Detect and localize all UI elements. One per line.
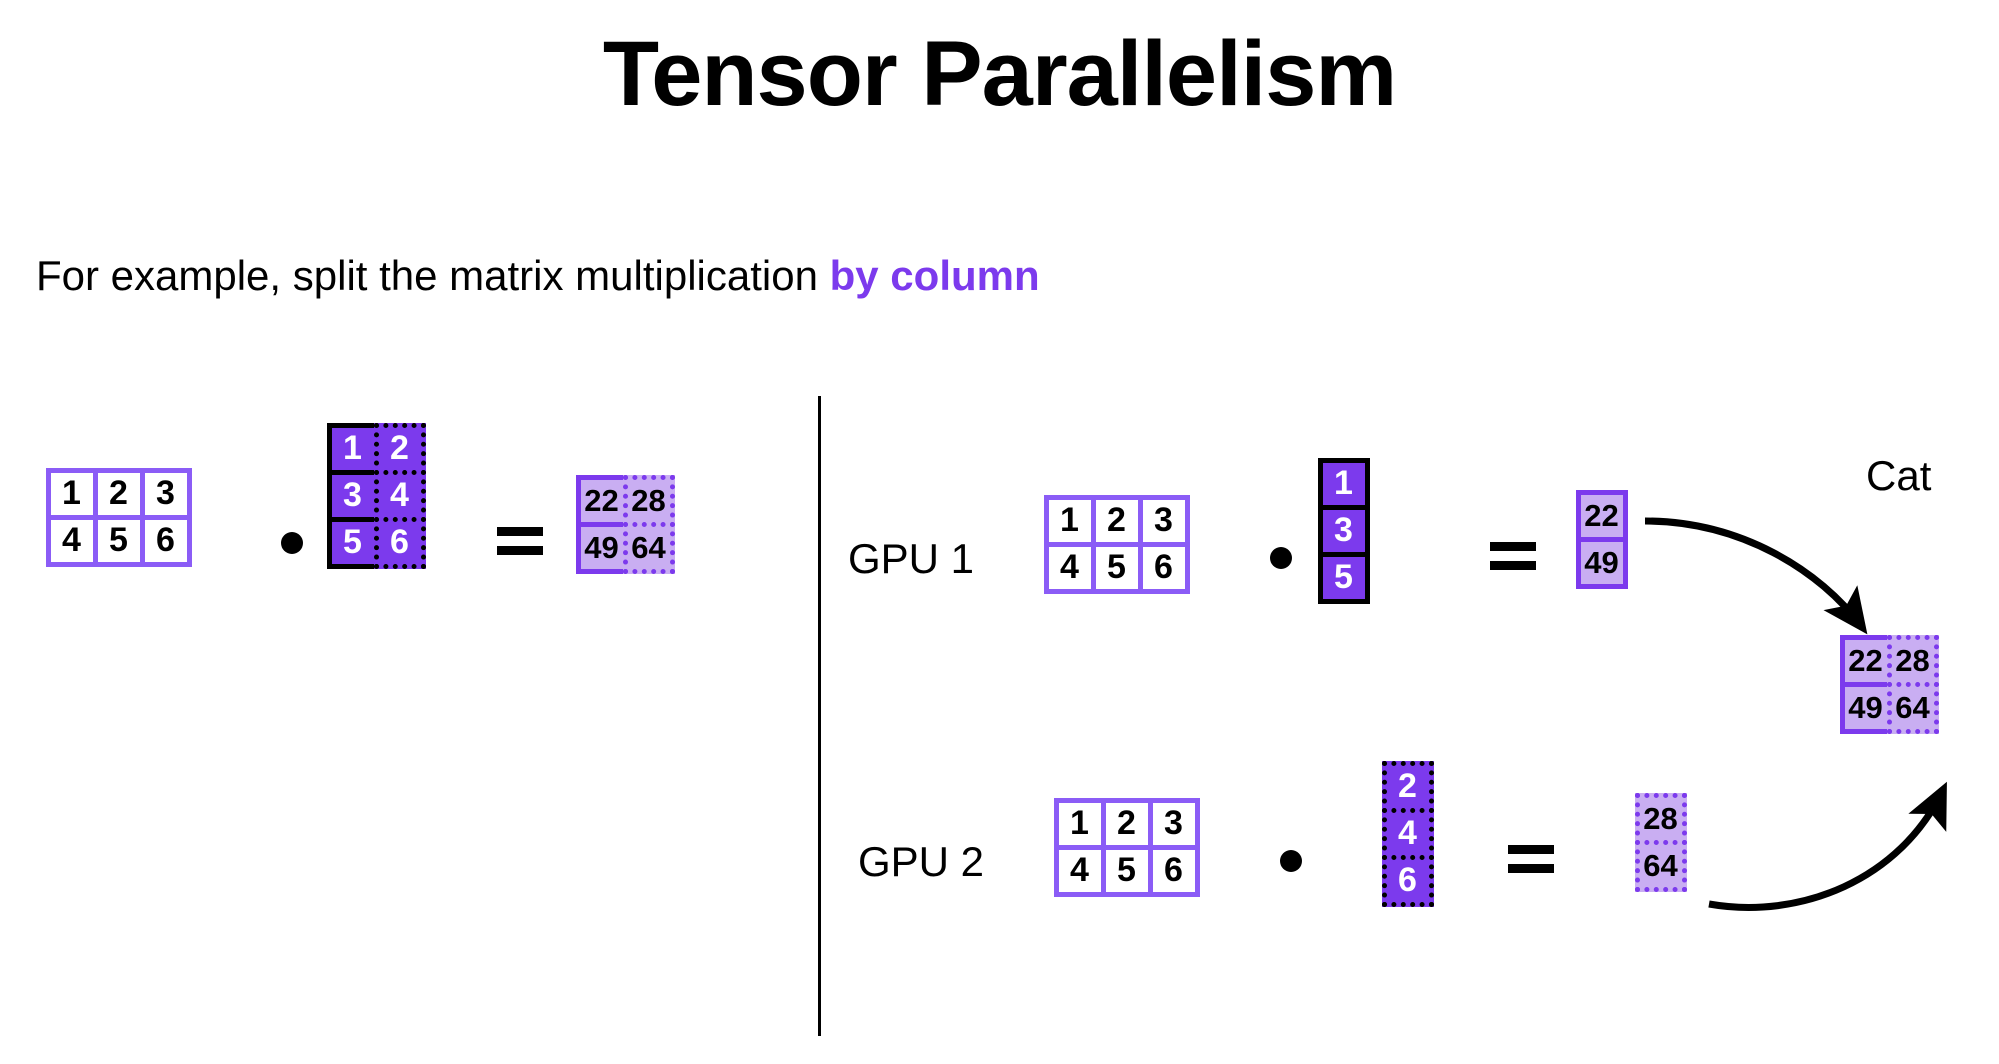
result-cell: 64 bbox=[623, 522, 675, 574]
equals-operator-icon bbox=[1508, 845, 1554, 875]
matrix-cell: 1 bbox=[1054, 798, 1106, 850]
overview-matrix-a: 1 2 3 4 5 6 bbox=[48, 470, 189, 564]
concatenated-result-matrix: 22 28 49 64 bbox=[1842, 637, 1936, 731]
matrix-row: 1 2 3 bbox=[48, 470, 189, 517]
matrix-cell: 3 bbox=[327, 470, 379, 522]
result-cell: 49 bbox=[1840, 682, 1892, 734]
matrix-row: 4 5 6 bbox=[48, 517, 189, 564]
gpu-2-result: 28 64 bbox=[1637, 795, 1684, 889]
matrix-cell: 2 bbox=[1091, 495, 1143, 547]
equals-operator-icon bbox=[497, 527, 543, 557]
vector-cell: 6 bbox=[1382, 855, 1434, 907]
result-cell: 64 bbox=[1887, 682, 1939, 734]
dot-product-operator-icon bbox=[1280, 850, 1302, 872]
matrix-row: 4 5 6 bbox=[1056, 847, 1197, 894]
result-cell: 64 bbox=[1635, 840, 1687, 892]
matrix-cell: 3 bbox=[140, 468, 192, 520]
matrix-cell: 3 bbox=[1138, 495, 1190, 547]
vector-cell: 1 bbox=[1318, 458, 1370, 510]
result-cell: 22 bbox=[1576, 490, 1628, 542]
matrix-cell: 2 bbox=[374, 423, 426, 475]
gpu-1-vector-b: 1 3 5 bbox=[1320, 460, 1367, 601]
result-cell: 49 bbox=[576, 522, 628, 574]
matrix-cell: 6 bbox=[374, 517, 426, 569]
gpu-1-label: GPU 1 bbox=[848, 535, 974, 583]
gpu-2-vector-b: 2 4 6 bbox=[1384, 763, 1431, 904]
dot-product-operator-icon bbox=[1270, 547, 1292, 569]
matrix-row: 1 2 3 bbox=[1046, 497, 1187, 544]
matrix-cell: 1 bbox=[1044, 495, 1096, 547]
matrix-cell: 6 bbox=[1138, 542, 1190, 594]
matrix-cell: 1 bbox=[46, 468, 98, 520]
matrix-cell: 5 bbox=[327, 517, 379, 569]
result-cell: 49 bbox=[1576, 537, 1628, 589]
arrow-gpu1-to-concat bbox=[1645, 521, 1862, 627]
matrix-cell: 6 bbox=[140, 515, 192, 567]
gpu-2-label: GPU 2 bbox=[858, 838, 984, 886]
matrix-cell: 5 bbox=[1101, 845, 1153, 897]
matrix-row: 22 28 bbox=[1842, 637, 1936, 684]
overview-result-matrix: 22 28 49 64 bbox=[578, 477, 672, 571]
matrix-cell: 5 bbox=[1091, 542, 1143, 594]
result-cell: 22 bbox=[1840, 635, 1892, 687]
gpu-2-matrix-a: 1 2 3 4 5 6 bbox=[1056, 800, 1197, 894]
dot-product-operator-icon bbox=[281, 532, 303, 554]
matrix-row: 22 28 bbox=[578, 477, 672, 524]
vertical-divider bbox=[818, 396, 821, 1036]
matrix-cell: 6 bbox=[1148, 845, 1200, 897]
matrix-cell: 2 bbox=[93, 468, 145, 520]
matrix-cell: 4 bbox=[1044, 542, 1096, 594]
subtitle: For example, split the matrix multiplica… bbox=[36, 252, 1040, 300]
matrix-b-column-1: 1 3 5 bbox=[329, 425, 376, 566]
result-cell: 28 bbox=[623, 475, 675, 527]
page-title: Tensor Parallelism bbox=[0, 28, 1999, 120]
matrix-row: 49 64 bbox=[1842, 684, 1936, 731]
result-cell: 22 bbox=[576, 475, 628, 527]
subtitle-plain-text: For example, split the matrix multiplica… bbox=[36, 252, 830, 299]
result-cell: 28 bbox=[1635, 793, 1687, 845]
subtitle-accent-text: by column bbox=[830, 252, 1040, 299]
equals-operator-icon bbox=[1490, 542, 1536, 572]
matrix-cell: 5 bbox=[93, 515, 145, 567]
matrix-b-column-2: 2 4 6 bbox=[376, 425, 423, 566]
vector-cell: 2 bbox=[1382, 761, 1434, 813]
matrix-cell: 1 bbox=[327, 423, 379, 475]
concat-label: Cat bbox=[1866, 452, 1931, 500]
vector-cell: 5 bbox=[1318, 552, 1370, 604]
matrix-row: 1 2 3 bbox=[1056, 800, 1197, 847]
matrix-cell: 2 bbox=[1101, 798, 1153, 850]
matrix-cell: 4 bbox=[46, 515, 98, 567]
vector-cell: 4 bbox=[1382, 808, 1434, 860]
matrix-row: 49 64 bbox=[578, 524, 672, 571]
matrix-cell: 4 bbox=[1054, 845, 1106, 897]
result-cell: 28 bbox=[1887, 635, 1939, 687]
matrix-cell: 3 bbox=[1148, 798, 1200, 850]
vector-cell: 3 bbox=[1318, 505, 1370, 557]
gpu-1-result: 22 49 bbox=[1578, 492, 1625, 586]
overview-matrix-b: 1 3 5 2 4 6 bbox=[329, 425, 423, 566]
concat-arrows bbox=[0, 0, 1999, 1064]
matrix-cell: 4 bbox=[374, 470, 426, 522]
arrow-gpu2-to-concat bbox=[1709, 790, 1943, 907]
gpu-1-matrix-a: 1 2 3 4 5 6 bbox=[1046, 497, 1187, 591]
matrix-row: 4 5 6 bbox=[1046, 544, 1187, 591]
